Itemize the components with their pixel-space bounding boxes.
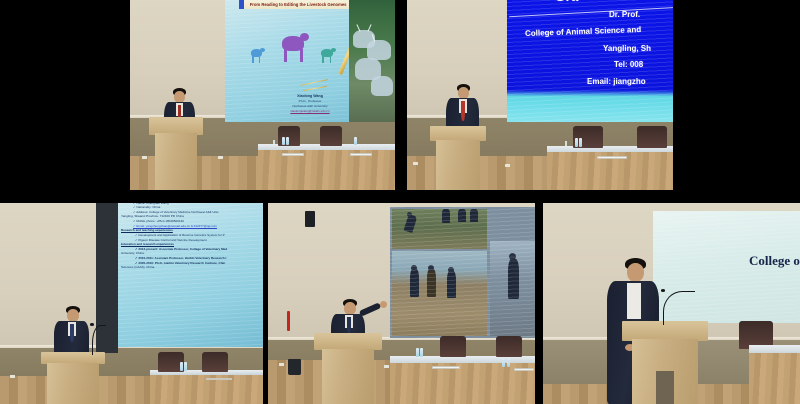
conference-table <box>258 144 395 190</box>
ceiling-speaker <box>305 211 315 227</box>
fire-extinguisher <box>287 311 290 331</box>
podium <box>152 117 200 190</box>
podium-top <box>430 126 486 141</box>
panel-top-left[interactable]: From Reading to Editing the Livestock Ge… <box>130 0 395 190</box>
sheep-leg <box>330 56 332 63</box>
chair <box>320 126 342 146</box>
drinking-glass <box>565 141 567 147</box>
table-front-panel <box>258 150 395 190</box>
table-front-panel <box>749 353 800 404</box>
water-bottle <box>286 137 289 145</box>
cattle-photograph <box>349 0 395 122</box>
lecture-room-scene: ✓ Name: Zhenghao Wang ✓ Nationality: Chi… <box>0 203 263 404</box>
chair <box>440 336 466 357</box>
wall-socket <box>413 162 418 165</box>
sheep-graphic-center <box>279 31 311 63</box>
cattle-figure <box>371 76 393 96</box>
wall-socket <box>142 156 147 159</box>
wall-socket <box>218 156 223 159</box>
lecture-room-scene <box>268 203 535 404</box>
podium-stem <box>656 371 674 404</box>
chair <box>496 336 522 357</box>
speaker-shirt <box>627 283 641 319</box>
lecture-room-scene: Gra Dr. Prof. College of Animal Science … <box>407 0 673 190</box>
sheep-graphic-left <box>249 46 266 64</box>
conference-table <box>749 345 800 404</box>
conference-table <box>547 146 673 190</box>
water-bottle <box>575 138 578 147</box>
sheep-head <box>260 48 265 52</box>
microphone-head-icon <box>90 323 94 326</box>
wall-socket <box>505 164 510 167</box>
microphone-arm <box>92 325 106 355</box>
water-bottle <box>502 358 505 367</box>
slide-line-title: Gra <box>555 0 579 4</box>
nameplate <box>597 156 627 159</box>
water-bottle <box>579 138 582 147</box>
nameplate <box>282 153 304 156</box>
water-bottle <box>420 348 423 357</box>
water-bottle <box>184 362 187 371</box>
slide-title-banner: From Reading to Editing the Livestock Ge… <box>239 0 358 9</box>
nameplate <box>350 153 372 156</box>
conference-table <box>390 356 535 404</box>
panel-top-right[interactable]: Gra Dr. Prof. College of Animal Science … <box>407 0 673 190</box>
slide-title-text: From Reading to Editing the Livestock Ge… <box>247 2 350 8</box>
screen-scanlines <box>507 0 673 122</box>
wall-socket <box>10 375 15 378</box>
cv-line: Sciences (CAAS), China. <box>121 265 263 270</box>
podium <box>627 321 703 404</box>
podium-body <box>155 133 197 190</box>
speaker-tie <box>70 324 74 342</box>
waste-bin <box>288 359 301 375</box>
podium-body <box>322 349 375 404</box>
sheep-graphic-right <box>319 46 337 65</box>
sheep-leg <box>284 49 287 62</box>
nameplate <box>514 368 534 371</box>
wall-socket <box>279 363 284 366</box>
chair <box>637 126 667 148</box>
panel-bottom-right[interactable]: College of A <box>543 203 800 404</box>
panel-bottom-middle[interactable] <box>268 203 535 404</box>
slide-line-presenter: Dr. Prof. <box>609 10 640 19</box>
nameplate <box>206 378 232 380</box>
projection-screen <box>390 207 535 338</box>
wall-socket <box>384 365 389 368</box>
speaker-hand <box>380 301 387 308</box>
projection-screen: Gra Dr. Prof. College of Animal Science … <box>507 0 673 122</box>
drinking-glass <box>273 140 275 145</box>
sheep-leg <box>259 56 261 63</box>
sheep-leg <box>300 49 303 62</box>
podium-top <box>149 117 203 135</box>
projection-screen: ✓ Name: Zhenghao Wang ✓ Nationality: Chi… <box>118 203 263 347</box>
water-bottle <box>507 358 510 367</box>
slide-line-city: Yangling, Sh <box>603 44 651 53</box>
slide-heading-text: College of A <box>749 253 800 269</box>
sheep-head <box>300 33 309 41</box>
podium-top <box>314 333 381 350</box>
sheep-leg <box>322 56 324 63</box>
sheep-leg <box>252 56 254 63</box>
panel-bottom-left[interactable]: ✓ Name: Zhenghao Wang ✓ Nationality: Chi… <box>0 203 263 404</box>
screen-scanlines <box>390 207 535 338</box>
water-bottle <box>416 348 419 357</box>
slide-presenter-block: Xiaolong Wang Ph.D., Professor Northwest… <box>256 94 365 113</box>
lecture-room-scene: From Reading to Editing the Livestock Ge… <box>130 0 395 190</box>
conference-table <box>150 370 263 404</box>
speaker-head <box>627 263 644 282</box>
chair <box>202 352 228 372</box>
podium-body <box>47 363 98 404</box>
podium-body <box>436 140 480 190</box>
podium <box>318 333 378 404</box>
microphone-head-icon <box>661 289 665 292</box>
lecture-room-scene: College of A <box>543 203 800 404</box>
chair <box>573 126 603 148</box>
speaker-tie <box>347 317 351 333</box>
speaker-tie <box>461 101 465 121</box>
microphone-arm <box>663 291 695 325</box>
podium <box>44 352 102 404</box>
presenter-email: xiaolongwang@nwafu.edu.cn <box>256 109 365 114</box>
cattle-figure <box>367 40 391 60</box>
water-bottle <box>282 137 285 145</box>
slide-line-tel: Tel: 008 <box>614 60 643 69</box>
nameplate <box>432 366 460 369</box>
podium <box>433 126 483 190</box>
cv-slide: ✓ Name: Zhenghao Wang ✓ Nationality: Chi… <box>118 203 263 347</box>
photo-collage: From Reading to Editing the Livestock Ge… <box>0 0 800 404</box>
water-bottle <box>180 362 183 371</box>
water-bottle <box>354 137 357 145</box>
projection-screen: From Reading to Editing the Livestock Ge… <box>225 0 395 122</box>
slide-line-email: Email: jiangzho <box>587 77 646 86</box>
